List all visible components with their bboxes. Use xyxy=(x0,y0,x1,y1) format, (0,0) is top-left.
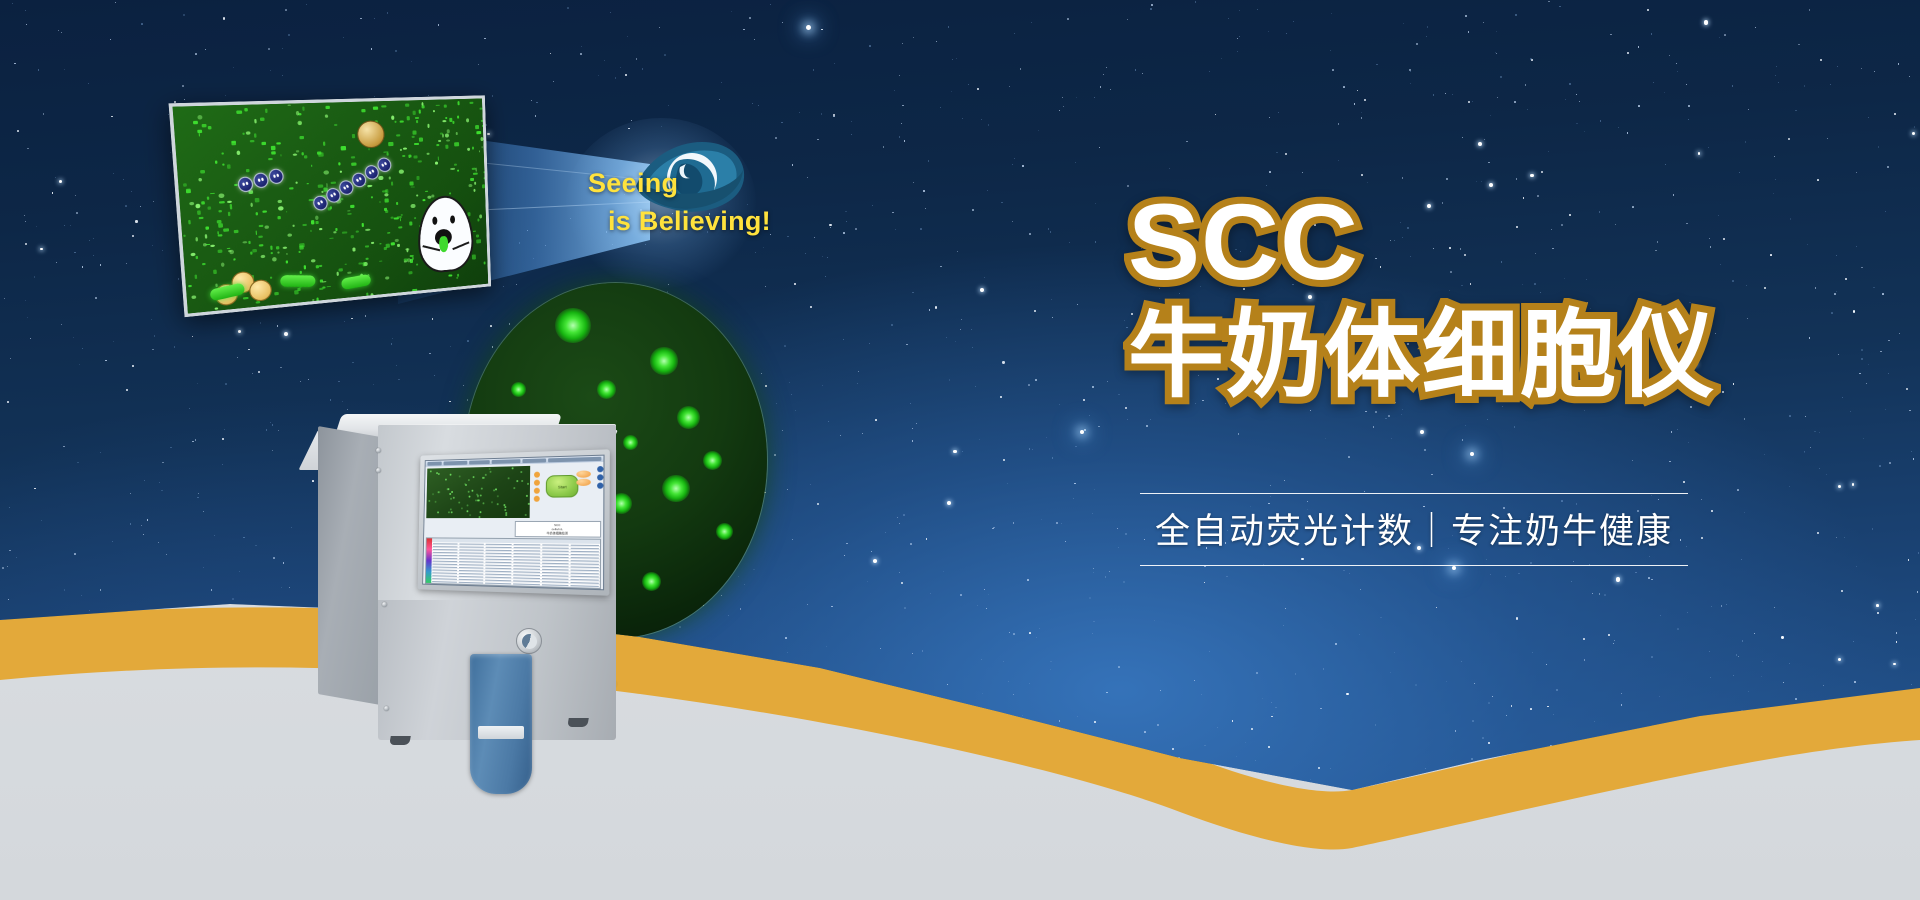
slogan-line1: Seeing xyxy=(588,168,788,199)
slogan-line2: is Believing! xyxy=(608,206,788,237)
touchscreen-bezel: Start SCC cells/mL 牛奶体细胞检测 xyxy=(418,449,610,595)
headline-primary: SCC xyxy=(1128,188,1848,296)
instrument-body: Start SCC cells/mL 牛奶体细胞检测 xyxy=(318,406,614,708)
screen-micrograph-preview xyxy=(426,466,530,518)
slogan: Seeing is Believing! xyxy=(588,168,788,237)
screen-results-table[interactable] xyxy=(425,537,601,589)
screw-icon xyxy=(376,468,381,473)
device-logo-badge xyxy=(516,628,542,654)
headline-secondary: 牛奶体细胞仪 xyxy=(1128,302,1848,410)
device-foot xyxy=(567,718,589,727)
sample-indicator-dots xyxy=(534,472,540,502)
bacteria-chain-icon xyxy=(236,167,285,193)
subtitle-text: 全自动荧光计数｜专注奶牛健康 xyxy=(1140,503,1688,554)
start-button[interactable]: Start xyxy=(546,475,579,498)
round-cell-icon xyxy=(356,120,385,149)
micrograph-panel xyxy=(198,96,488,288)
table-grid xyxy=(431,539,600,589)
screw-icon xyxy=(384,706,389,711)
bright-star-icon xyxy=(1080,430,1084,434)
screw-icon xyxy=(376,448,381,453)
cell-character-icon xyxy=(416,194,474,274)
scc-analyzer-device: Start SCC cells/mL 牛奶体细胞检测 xyxy=(300,358,630,708)
screen-controls-area: Start xyxy=(532,462,603,520)
bright-star-icon xyxy=(806,25,811,30)
device-foot xyxy=(389,736,411,745)
product-banner: Seeing is Believing! xyxy=(0,0,1920,900)
headline-block: SCC 牛奶体细胞仪 xyxy=(1128,188,1848,410)
subtitle-block: 全自动荧光计数｜专注奶牛健康 xyxy=(1140,493,1688,566)
sample-door[interactable] xyxy=(470,654,532,794)
status-dots xyxy=(597,466,603,489)
sample-slot xyxy=(478,726,524,739)
result-label-3: 牛奶体细胞检测 xyxy=(518,531,598,536)
bright-star-icon xyxy=(1470,452,1474,456)
touchscreen-display[interactable]: Start SCC cells/mL 牛奶体细胞检测 xyxy=(422,455,604,591)
bright-star-icon xyxy=(1452,566,1456,570)
instrument-left-side xyxy=(318,426,382,705)
screen-result-panel: SCC cells/mL 牛奶体细胞检测 xyxy=(515,521,601,538)
micrograph-panel-surface xyxy=(169,95,492,317)
screen-upper-area: Start xyxy=(424,462,603,520)
screw-icon xyxy=(382,602,387,607)
sample-vials-icon xyxy=(576,470,591,486)
